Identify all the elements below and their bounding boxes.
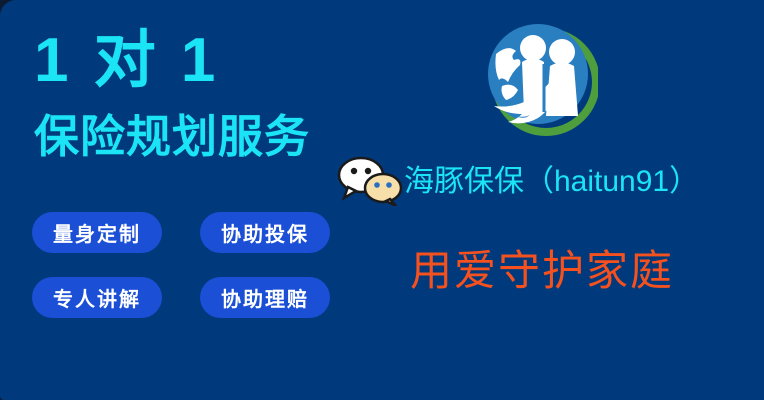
feature-pill-custom-plan[interactable]: 量身定制 <box>32 212 162 253</box>
feature-pill-label: 量身定制 <box>53 218 141 247</box>
feature-pill-assist-claim[interactable]: 协助理赔 <box>200 277 330 318</box>
insurance-service-banner: 1 对 1 保险规划服务 量身定制 协助投保 专人讲解 协助理赔 <box>0 0 764 400</box>
headline-secondary: 保险规划服务 <box>34 114 310 159</box>
feature-pill-assist-apply[interactable]: 协助投保 <box>200 212 330 253</box>
feature-pill-expert-explain[interactable]: 专人讲解 <box>32 277 162 318</box>
headline-primary: 1 对 1 <box>34 30 219 92</box>
feature-pill-label: 协助理赔 <box>221 283 309 312</box>
globe-family-dolphin-logo <box>486 20 598 138</box>
wechat-id-text: 海豚保保（haitun91） <box>404 164 699 200</box>
feature-pill-label: 专人讲解 <box>53 283 141 312</box>
feature-pill-label: 协助投保 <box>221 218 309 247</box>
wechat-icon <box>336 156 408 206</box>
slogan-text: 用爱守护家庭 <box>410 250 674 292</box>
